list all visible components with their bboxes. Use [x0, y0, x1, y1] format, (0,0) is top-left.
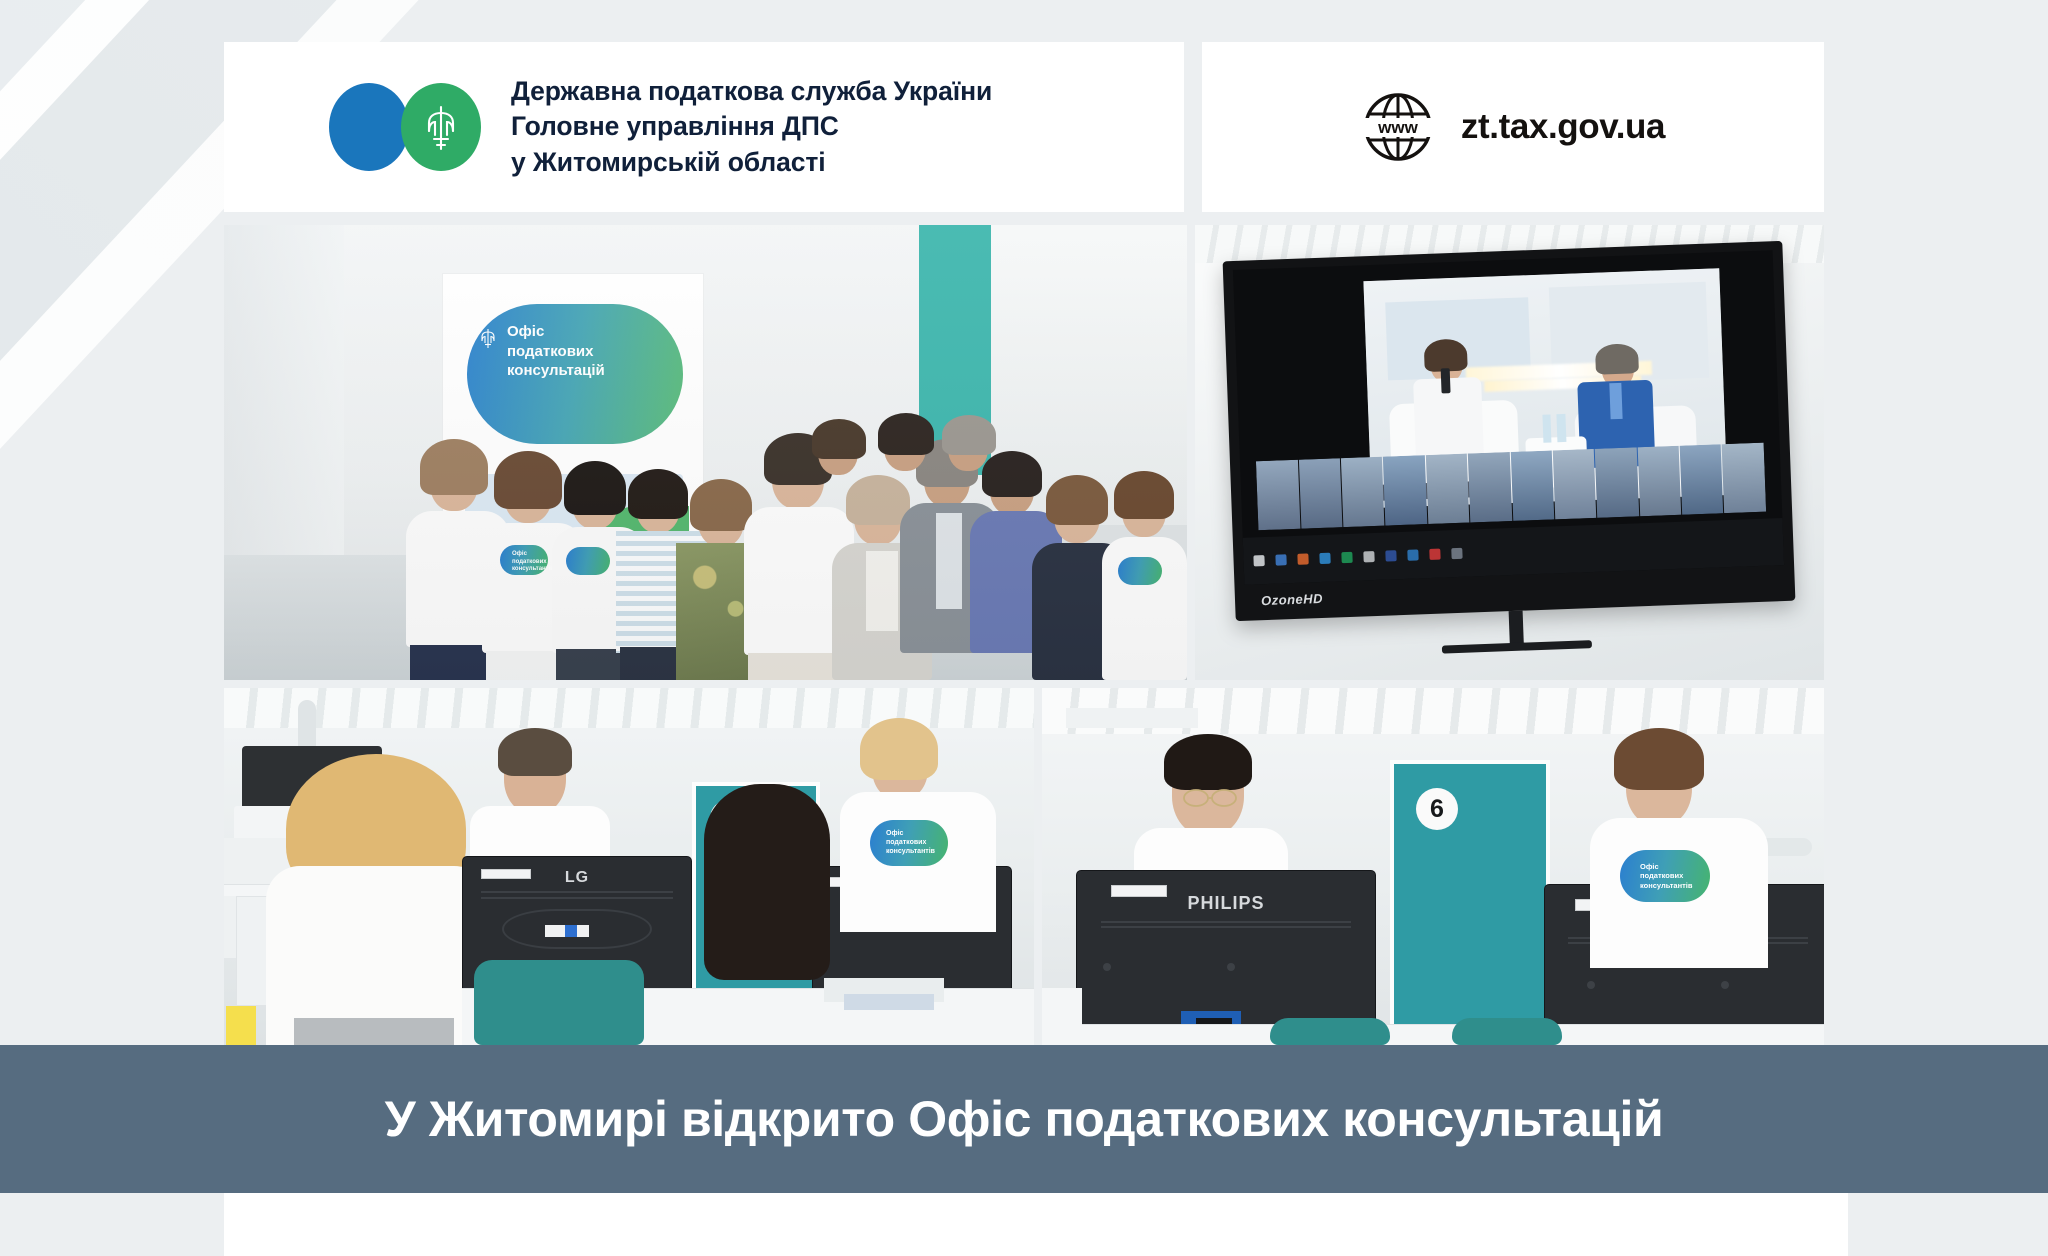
tv-stand-neck: [1509, 611, 1524, 645]
asset-tag: [481, 869, 531, 879]
television-display: Workplace: [1223, 241, 1796, 621]
taskbar-icon: [1319, 553, 1330, 564]
tv-brand-label: OzoneHD: [1261, 591, 1324, 608]
caption-headline: У Житомирі відкрито Офіс податкових конс…: [385, 1090, 1664, 1148]
poster-canvas: Державна податкова служба України Головн…: [224, 0, 1848, 1256]
photo-group-opening-ceremony: Офіс податкових консультацій Офіс податк…: [224, 225, 1187, 680]
participant-tile: [1553, 449, 1597, 520]
bottom-white-strip: [224, 1193, 1848, 1256]
taskbar-icon: [1407, 549, 1418, 560]
participant-tile: [1595, 447, 1639, 518]
organization-name-block: Державна податкова служба України Головн…: [511, 74, 992, 180]
org-line-2: Головне управління ДПС: [511, 109, 992, 144]
participant-tile: [1426, 454, 1470, 525]
www-label: www: [1377, 118, 1418, 137]
videoconference-participant-tiles: [1256, 443, 1766, 531]
header-strip: Державна податкова служба України Головн…: [224, 42, 1824, 212]
website-card[interactable]: www zt.tax.gov.ua: [1202, 42, 1824, 212]
taskbar-icon: [1341, 552, 1352, 563]
taskbar-icon: [1275, 554, 1286, 565]
participant-tile: [1256, 460, 1300, 531]
desk-number-badge: 6: [1416, 788, 1458, 830]
photo-collage: Офіс податкових консультацій Офіс податк…: [224, 225, 1824, 1045]
monitor-brand-label: PHILIPS: [1187, 893, 1264, 914]
participant-tile: [1468, 452, 1512, 523]
organization-logo-card: Державна податкова служба України Головн…: [224, 42, 1184, 212]
participant-tile: [1637, 446, 1681, 517]
tshirt-logo-text: Офіс податкових консультантів: [512, 551, 554, 574]
shirt-logo-text: Офіс податкових консультантів: [1640, 862, 1692, 890]
globe-www-icon: www: [1361, 90, 1435, 164]
tv-screen: [1233, 250, 1784, 585]
asset-tag: [1111, 885, 1167, 897]
green-circle-trident-icon: [401, 83, 481, 171]
partition-desk-6: [1390, 760, 1550, 1045]
blue-circle-icon: [329, 83, 409, 171]
participant-tile: [1722, 443, 1766, 514]
dps-logo-mark: [329, 83, 481, 171]
participant-tile: [1298, 458, 1342, 529]
taskbar-icon: [1429, 548, 1440, 559]
monitor-philips: PHILIPS: [1076, 870, 1376, 1042]
taskbar-icon: [1385, 550, 1396, 561]
photo-consultation-desk-4: LG 4 Офіс под: [224, 688, 1034, 1045]
glasses-icon: [1180, 788, 1240, 808]
website-url-text[interactable]: zt.tax.gov.ua: [1461, 107, 1665, 147]
rollup-banner-text: Офіс податкових консультацій: [507, 322, 605, 381]
taskbar-icon: [1253, 555, 1264, 566]
office-chair: [1452, 1018, 1562, 1045]
client-2-hair: [704, 784, 830, 980]
rollup-trident-icon: [479, 326, 497, 350]
yellow-accent-square: [226, 1006, 256, 1045]
office-chair: [1270, 1018, 1390, 1045]
caption-bar: У Житомирі відкрито Офіс податкових конс…: [0, 1045, 2048, 1193]
office-chair: [474, 960, 644, 1045]
shirt-logo-text: Офіс податкових консультантів: [886, 830, 935, 856]
monitor-brand-label: LG: [565, 869, 589, 887]
participant-tile: [1341, 457, 1385, 528]
taskbar-icon: [1363, 551, 1374, 562]
participant-tile: [1383, 455, 1427, 526]
org-line-1: Державна податкова служба України: [511, 74, 992, 109]
trident-icon: [421, 101, 461, 153]
photo-consultation-desk-6: PHILIPS 6 LG Офіс под: [1042, 688, 1824, 1045]
org-line-3: у Житомирській області: [511, 145, 992, 180]
taskbar-icon: [1451, 548, 1462, 559]
taskbar-icon: [1297, 553, 1308, 564]
participant-tile: [1510, 451, 1554, 522]
participant-tile: [1680, 444, 1724, 515]
photo-tv-videoconference: Workplace: [1195, 225, 1824, 680]
